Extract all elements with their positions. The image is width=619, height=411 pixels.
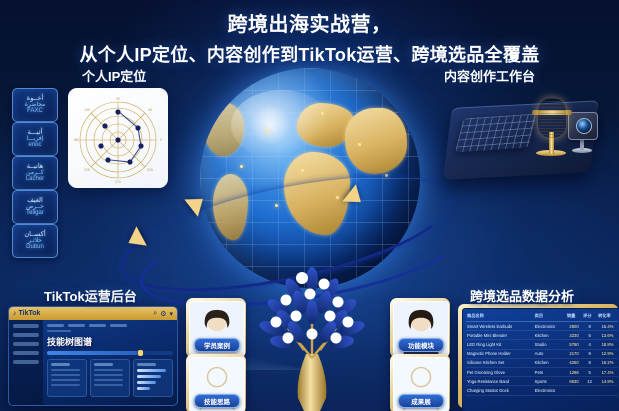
side-tag-line3: FAXC xyxy=(27,108,43,114)
badge-card-feature-module[interactable]: 功能模块 xyxy=(390,298,450,358)
breadcrumb xyxy=(47,330,71,332)
card-row xyxy=(51,374,80,376)
cell-cat: Electronics xyxy=(534,386,566,395)
cell-sales: 2600 xyxy=(566,322,582,331)
svg-text:45: 45 xyxy=(148,108,152,112)
column-header-rate: 转化率 xyxy=(597,312,618,322)
caption-content-studio: 内容创作工作台 xyxy=(444,66,535,85)
sidebar-item[interactable] xyxy=(13,342,39,346)
svg-text:135: 135 xyxy=(84,108,90,112)
table-row[interactable]: Smart Wireless EarbudsElectronics2600815… xyxy=(466,322,618,331)
badge-label: 功能模块 xyxy=(398,338,444,352)
landmass-asia xyxy=(345,108,407,174)
cell-rate: 18.8% xyxy=(597,340,618,349)
svg-text:90: 90 xyxy=(116,97,120,101)
cell-cat: Pets xyxy=(534,367,566,376)
column-header-score: 评分 xyxy=(582,312,597,322)
card-row xyxy=(94,374,123,376)
headline-line-2: 从个人IP定位、内容创作到TikTok运营、跨境选品全覆盖 xyxy=(0,41,619,67)
gear-icon[interactable]: ⚙ xyxy=(160,310,166,318)
music-note-icon: ♪ xyxy=(13,310,17,317)
badge-inner: 学员案例 xyxy=(189,301,245,357)
cell-cat: Kitchen xyxy=(534,331,566,340)
side-tag: هانيــة كــرمن Lacher xyxy=(12,156,58,190)
sidebar-item[interactable] xyxy=(13,333,39,337)
cell-sales xyxy=(566,386,582,395)
badge-label: 学员案例 xyxy=(194,338,240,352)
camera-lens xyxy=(576,118,592,134)
bar-item xyxy=(137,369,166,372)
bar-item xyxy=(137,387,150,390)
search-icon[interactable]: ⌕ xyxy=(153,310,157,318)
side-tag-line3: enoc xyxy=(28,142,41,148)
cell-sales: 1298 xyxy=(566,367,582,376)
badge-label: 成果展 xyxy=(398,394,444,408)
network-node xyxy=(266,130,269,133)
cell-sales: 5760 xyxy=(566,340,582,349)
dashboard-card-chart xyxy=(133,359,173,397)
cell-score: 5 xyxy=(582,331,597,340)
cell-rate: 16.2% xyxy=(597,358,618,367)
card-row xyxy=(51,379,80,381)
radar-chart: 90270 1800 13545 225315 xyxy=(68,88,168,188)
card-row xyxy=(94,369,123,371)
cell-sales: 3230 xyxy=(566,331,582,340)
badge-card-results[interactable]: 成果展 xyxy=(390,354,450,411)
card-row xyxy=(94,379,123,381)
column-header-sales: 销量 xyxy=(566,312,582,322)
sidebar-item[interactable] xyxy=(13,324,39,328)
side-tag: أثيـــة إفريـــا enoc xyxy=(12,122,58,156)
cell-cat: Electronics xyxy=(534,322,566,331)
sidebar-item[interactable] xyxy=(13,360,39,364)
chevron-down-icon[interactable]: ▾ xyxy=(169,310,173,318)
cell-name: Yoga Resistance Band xyxy=(466,377,534,386)
network-node xyxy=(240,165,243,168)
cell-name: Magnetic Phone Holder xyxy=(466,349,534,358)
cell-name: Pet Grooming Glove xyxy=(466,367,534,376)
data-panel-screen: 商品名称 类目 销量 评分 转化率 Smart Wireless Earbuds… xyxy=(462,308,619,411)
bar-item xyxy=(137,375,161,378)
cell-score: 8 xyxy=(582,358,597,367)
keyboard-icon xyxy=(455,114,537,153)
dashboard-titlebar: ♪ TikTok ⌕ ⚙ ▾ xyxy=(9,307,177,320)
dashboard-sidebar[interactable] xyxy=(9,320,43,405)
dashboard-body: 技能树图谱 xyxy=(9,320,177,405)
cell-rate: 15.4% xyxy=(597,322,618,331)
tab-item[interactable] xyxy=(89,324,106,327)
cell-rate: 14.9% xyxy=(597,377,618,386)
tiktok-logo[interactable]: ♪ TikTok xyxy=(13,310,40,317)
tab-item[interactable] xyxy=(68,324,85,327)
card-title xyxy=(94,363,113,366)
table-row[interactable]: Yoga Resistance BandSports85301214.9% xyxy=(466,377,618,386)
dashboard-titlebar-actions: ⌕ ⚙ ▾ xyxy=(153,310,173,318)
column-header-category: 类目 xyxy=(534,312,566,322)
sidebar-item[interactable] xyxy=(13,351,39,355)
side-tag: الغيف حــرص Teligar xyxy=(12,190,58,224)
card-row xyxy=(94,384,123,386)
table-row[interactable]: Portable Mini BlenderKitchen3230513.6% xyxy=(466,331,618,340)
data-analysis-panel[interactable]: 商品名称 类目 销量 评分 转化率 Smart Wireless Earbuds… xyxy=(458,304,618,408)
cell-rate: 13.6% xyxy=(597,331,618,340)
svg-text:180: 180 xyxy=(73,138,79,142)
radar-chart-card: 90270 1800 13545 225315 xyxy=(68,88,168,188)
tab-item[interactable] xyxy=(47,324,64,327)
side-tag: أكســان حلاتـر Dubun xyxy=(12,224,58,258)
table-row[interactable]: Magnetic Phone HolderAuto2170912.9% xyxy=(466,349,618,358)
cell-score xyxy=(582,386,597,395)
table-body: Smart Wireless EarbudsElectronics2600815… xyxy=(466,322,618,396)
progress-bar xyxy=(47,351,173,355)
cell-score: 5 xyxy=(582,367,597,376)
poster-canvas: 跨境出海实战营， 从个人IP定位、内容创作到TikTok运营、跨境选品全覆盖 xyxy=(0,0,619,411)
bar-item xyxy=(137,381,156,384)
card-title xyxy=(137,363,156,366)
dashboard-tabs[interactable] xyxy=(47,324,173,327)
table-row[interactable]: LED Ring Light KitStudio5760418.8% xyxy=(466,340,618,349)
cell-score: 9 xyxy=(582,349,597,358)
cell-cat: Kitchen xyxy=(534,358,566,367)
table-row[interactable]: Charging Station DockElectronics xyxy=(466,386,618,395)
side-tag-line3: Lacher xyxy=(26,176,44,182)
cell-name: Smart Wireless Earbuds xyxy=(466,322,534,331)
side-tag-line3: Dubun xyxy=(26,244,44,250)
cell-name: Charging Station Dock xyxy=(466,386,534,395)
badge-label: 技能思路 xyxy=(194,394,240,408)
badge-card-skill-path[interactable]: 技能思路 xyxy=(186,354,246,411)
card-row xyxy=(51,369,80,371)
cell-score: 8 xyxy=(582,322,597,331)
cell-name: LED Ring Light Kit xyxy=(466,340,534,349)
tiktok-dashboard-panel[interactable]: ♪ TikTok ⌕ ⚙ ▾ xyxy=(8,306,178,406)
tiktok-wordmark: TikTok xyxy=(19,310,41,317)
cell-cat: Studio xyxy=(534,340,566,349)
cell-rate: 17.4% xyxy=(597,367,618,376)
table-header-row: 商品名称 类目 销量 评分 转化率 xyxy=(466,312,618,322)
microphone-icon xyxy=(538,98,566,138)
caption-personal-ip: 个人IP定位 xyxy=(82,66,146,85)
cell-sales: 4250 xyxy=(566,358,582,367)
cell-cat: Sports xyxy=(534,377,566,386)
svg-text:225: 225 xyxy=(84,168,90,172)
cell-score: 4 xyxy=(582,340,597,349)
table-row[interactable]: Silicone Kitchen SetKitchen4250816.2% xyxy=(466,358,618,367)
cell-sales: 8530 xyxy=(566,377,582,386)
side-tag-line3: Teligar xyxy=(26,210,44,216)
svg-text:315: 315 xyxy=(147,168,153,172)
cell-name: Portable Mini Blender xyxy=(466,331,534,340)
dashboard-card-metrics xyxy=(90,359,130,397)
cell-rate xyxy=(597,386,618,395)
cell-rate: 12.9% xyxy=(597,349,618,358)
product-data-table: 商品名称 类目 销量 评分 转化率 Smart Wireless Earbuds… xyxy=(466,312,618,396)
cell-score: 12 xyxy=(582,377,597,386)
dashboard-cards xyxy=(47,359,173,397)
cell-cat: Auto xyxy=(534,349,566,358)
dashboard-card-list xyxy=(47,359,87,397)
table-row[interactable]: Pet Grooming GlovePets1298517.4% xyxy=(466,367,618,376)
dashboard-heading: 技能树图谱 xyxy=(47,335,173,348)
tab-item[interactable] xyxy=(110,324,127,327)
globe-specular-highlight xyxy=(231,90,332,160)
badge-inner: 技能思路 xyxy=(189,357,245,411)
side-tag: أخــوة محاضرة FAXC xyxy=(12,88,58,122)
card-row xyxy=(51,384,80,386)
skill-tree-illustration xyxy=(252,258,372,411)
cell-name: Silicone Kitchen Set xyxy=(466,358,534,367)
tree-trunk xyxy=(298,354,327,411)
card-title xyxy=(51,363,70,366)
badge-inner: 成果展 xyxy=(393,357,449,411)
page-title: 跨境出海实战营， 从个人IP定位、内容创作到TikTok运营、跨境选品全覆盖 xyxy=(0,8,619,67)
badge-card-student-case[interactable]: 学员案例 xyxy=(186,298,246,358)
svg-text:0: 0 xyxy=(160,138,162,142)
network-node xyxy=(321,112,324,115)
content-studio-illustration xyxy=(440,84,600,188)
badge-inner: 功能模块 xyxy=(393,301,449,357)
svg-text:270: 270 xyxy=(115,180,121,184)
caption-tiktok-dashboard: TikTok运营后台 xyxy=(44,286,137,305)
headline-line-1: 跨境出海实战营， xyxy=(0,8,619,37)
caption-data-analysis: 跨境选品数据分析 xyxy=(470,286,574,305)
column-header-name: 商品名称 xyxy=(466,312,534,322)
cell-sales: 2170 xyxy=(566,349,582,358)
dashboard-main: 技能树图谱 xyxy=(43,320,177,405)
